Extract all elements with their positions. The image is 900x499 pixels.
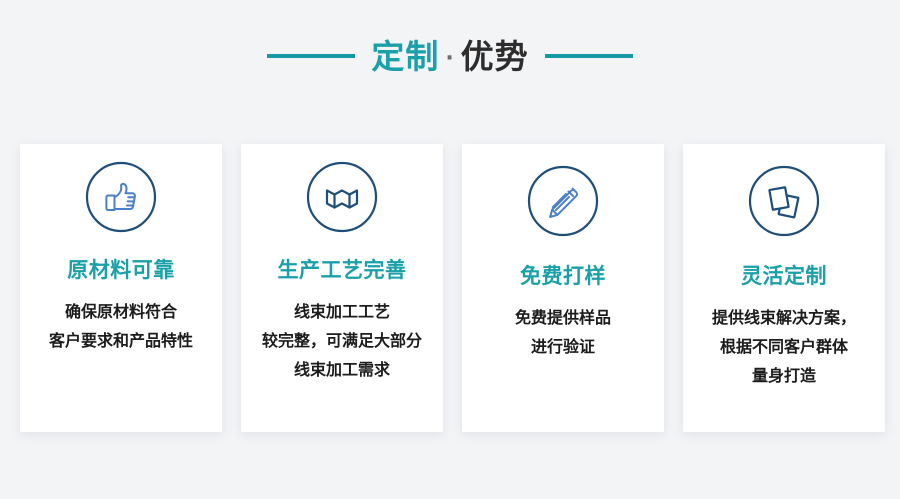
section-header: 定制 · 优势: [0, 28, 900, 84]
feature-card-description: 提供线束解决方案， 根据不同客户群体 量身打造: [704, 303, 864, 390]
stacked-cards-icon: [747, 164, 821, 238]
feature-card-list: 原材料可靠 确保原材料符合 客户要求和产品特性 生产工艺完善 线束加工工艺 较完…: [20, 144, 886, 432]
page-title: 定制 · 优势: [371, 40, 528, 73]
feature-card-description: 线束加工工艺 较完整，可满足大部分 线束加工需求: [254, 297, 430, 384]
header-rule-right: [545, 54, 633, 58]
feature-card-production-process[interactable]: 生产工艺完善 线束加工工艺 较完整，可满足大部分 线束加工需求: [241, 144, 443, 432]
feature-card-flexible-custom[interactable]: 灵活定制 提供线束解决方案， 根据不同客户群体 量身打造: [683, 144, 885, 432]
page-title-separator: ·: [439, 48, 460, 70]
feature-card-description: 免费提供样品 进行验证: [507, 303, 619, 361]
feature-card-title: 免费打样: [520, 266, 606, 287]
feature-card-title: 灵活定制: [741, 266, 827, 287]
page-title-accent: 定制: [371, 40, 439, 73]
folded-map-icon: [305, 160, 379, 234]
feature-card-raw-material[interactable]: 原材料可靠 确保原材料符合 客户要求和产品特性: [20, 144, 222, 432]
thumbs-up-icon: [84, 160, 158, 234]
feature-card-free-sample[interactable]: 免费打样 免费提供样品 进行验证: [462, 144, 664, 432]
feature-card-description: 确保原材料符合 客户要求和产品特性: [41, 297, 201, 355]
page-title-main: 优势: [461, 40, 529, 73]
feature-card-title: 原材料可靠: [67, 260, 175, 281]
feature-card-title: 生产工艺完善: [278, 260, 407, 281]
pencil-icon: [526, 164, 600, 238]
header-rule-left: [267, 54, 355, 58]
